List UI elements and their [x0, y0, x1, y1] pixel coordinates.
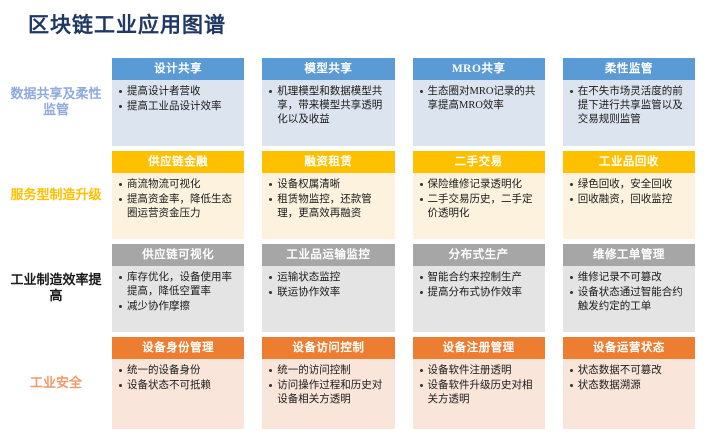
card-bullet: 机理模型和数据模型共享，带来模型共享透明化以及收益: [268, 85, 390, 127]
matrix-row: 工业制造效率提高供应链可视化库存优化，设备使用率提高，降低空置率减少协作摩擦工业…: [0, 244, 705, 332]
card-body: 统一的访问控制访问操作过程和历史对设备相关方透明: [262, 359, 394, 429]
row-label-2: 服务型制造升级: [0, 151, 112, 239]
card-title: 二手交易: [413, 151, 545, 173]
matrix-grid: 数据共享及柔性监管设计共享提高设计者营收提高工业品设计效率模型共享机理模型和数据…: [0, 58, 713, 443]
card-title: 设备访问控制: [262, 337, 394, 359]
card[interactable]: 设计共享提高设计者营收提高工业品设计效率: [112, 58, 244, 146]
card[interactable]: 设备注册管理设备软件注册透明设备软件升级历史对相关方透明: [413, 337, 545, 429]
card-bullet: 运输状态监控: [268, 271, 390, 285]
card-bullet-list: 状态数据不可篡改状态数据溯源: [569, 364, 691, 393]
card-bullet: 联运协作效率: [268, 286, 390, 300]
card-body: 运输状态监控联运协作效率: [262, 266, 394, 332]
card[interactable]: 工业品运输监控运输状态监控联运协作效率: [262, 244, 394, 332]
card-title: 工业品回收: [563, 151, 695, 173]
card-title: 工业品运输监控: [262, 244, 394, 266]
card[interactable]: 设备运营状态状态数据不可篡改状态数据溯源: [563, 337, 695, 429]
card-bullet: 状态数据不可篡改: [569, 364, 691, 378]
card-bullet-list: 智能合约来控制生产提高分布式协作效率: [419, 271, 541, 300]
card-body: 在不失市场灵活度的前提下进行共享监管以及交易规则监管: [563, 80, 695, 146]
card-bullet: 回收融资，回收监控: [569, 193, 691, 207]
card-bullet-list: 商流物流可视化提高资金率，降低生态圈运营资金压力: [118, 178, 240, 221]
card-bullet: 提高资金率，降低生态圈运营资金压力: [118, 193, 240, 221]
card-bullet: 生态圈对MRO记录的共享提高MRO效率: [419, 85, 541, 113]
card-body: 提高设计者营收提高工业品设计效率: [112, 80, 244, 146]
card[interactable]: 分布式生产智能合约来控制生产提高分布式协作效率: [413, 244, 545, 332]
row-label-1: 数据共享及柔性监管: [0, 58, 112, 146]
card-bullet-list: 统一的访问控制访问操作过程和历史对设备相关方透明: [268, 364, 390, 407]
row-cards: 供应链金融商流物流可视化提高资金率，降低生态圈运营资金压力融资租赁设备权属清晰租…: [112, 151, 705, 239]
card[interactable]: 设备身份管理统一的设备身份设备状态不可抵赖: [112, 337, 244, 429]
card-title: 融资租赁: [262, 151, 394, 173]
card-bullet: 租赁物监控，还款管理，更高效再融资: [268, 193, 390, 221]
card-body: 保险维修记录透明化二手交易历史，二手定价透明化: [413, 173, 545, 239]
card[interactable]: 二手交易保险维修记录透明化二手交易历史，二手定价透明化: [413, 151, 545, 239]
card[interactable]: 设备访问控制统一的访问控制访问操作过程和历史对设备相关方透明: [262, 337, 394, 429]
card-bullet: 减少协作摩擦: [118, 300, 240, 314]
card-bullet-list: 绿色回收，安全回收回收融资，回收监控: [569, 178, 691, 207]
row-label-4: 工业安全: [0, 337, 112, 429]
card-title: 柔性监管: [563, 58, 695, 80]
card-bullet-list: 设备权属清晰租赁物监控，还款管理，更高效再融资: [268, 178, 390, 221]
card-body: 维修记录不可篡改设备状态通过智能合约触发约定的工单: [563, 266, 695, 332]
blockchain-industry-application-map: 区块链工业应用图谱 数据共享及柔性监管设计共享提高设计者营收提高工业品设计效率模…: [0, 0, 713, 443]
card-title: 设计共享: [112, 58, 244, 80]
card-bullet: 设备软件升级历史对相关方透明: [419, 379, 541, 407]
card-bullet-list: 在不失市场灵活度的前提下进行共享监管以及交易规则监管: [569, 85, 691, 127]
card-title: 设备注册管理: [413, 337, 545, 359]
card-body: 智能合约来控制生产提高分布式协作效率: [413, 266, 545, 332]
card-bullet: 提高工业品设计效率: [118, 100, 240, 114]
card-bullet-list: 库存优化，设备使用率提高，降低空置率减少协作摩擦: [118, 271, 240, 314]
card[interactable]: 维修工单管理维修记录不可篡改设备状态通过智能合约触发约定的工单: [563, 244, 695, 332]
card[interactable]: 柔性监管在不失市场灵活度的前提下进行共享监管以及交易规则监管: [563, 58, 695, 146]
card-title: 分布式生产: [413, 244, 545, 266]
card-body: 机理模型和数据模型共享，带来模型共享透明化以及收益: [262, 80, 394, 146]
card-bullet: 绿色回收，安全回收: [569, 178, 691, 192]
card-body: 设备软件注册透明设备软件升级历史对相关方透明: [413, 359, 545, 429]
card-bullet: 智能合约来控制生产: [419, 271, 541, 285]
row-cards: 供应链可视化库存优化，设备使用率提高，降低空置率减少协作摩擦工业品运输监控运输状…: [112, 244, 705, 332]
card[interactable]: 融资租赁设备权属清晰租赁物监控，还款管理，更高效再融资: [262, 151, 394, 239]
card-bullet: 访问操作过程和历史对设备相关方透明: [268, 379, 390, 407]
card[interactable]: 供应链可视化库存优化，设备使用率提高，降低空置率减少协作摩擦: [112, 244, 244, 332]
card-title: 维修工单管理: [563, 244, 695, 266]
matrix-row: 工业安全设备身份管理统一的设备身份设备状态不可抵赖设备访问控制统一的访问控制访问…: [0, 337, 705, 429]
card-bullet: 设备权属清晰: [268, 178, 390, 192]
card-bullet-list: 维修记录不可篡改设备状态通过智能合约触发约定的工单: [569, 271, 691, 314]
card-bullet: 提高设计者营收: [118, 85, 240, 99]
card-bullet: 设备状态通过智能合约触发约定的工单: [569, 286, 691, 314]
card-bullet: 统一的设备身份: [118, 364, 240, 378]
card-bullet-list: 运输状态监控联运协作效率: [268, 271, 390, 300]
card-bullet-list: 设备软件注册透明设备软件升级历史对相关方透明: [419, 364, 541, 407]
card-body: 统一的设备身份设备状态不可抵赖: [112, 359, 244, 429]
card-bullet: 统一的访问控制: [268, 364, 390, 378]
page-title: 区块链工业应用图谱: [28, 15, 226, 36]
card-body: 设备权属清晰租赁物监控，还款管理，更高效再融资: [262, 173, 394, 239]
card-bullet-list: 提高设计者营收提高工业品设计效率: [118, 85, 240, 114]
card-body: 库存优化，设备使用率提高，降低空置率减少协作摩擦: [112, 266, 244, 332]
card-bullet: 提高分布式协作效率: [419, 286, 541, 300]
card-title: 设备身份管理: [112, 337, 244, 359]
card-bullet-list: 保险维修记录透明化二手交易历史，二手定价透明化: [419, 178, 541, 221]
card-bullet: 保险维修记录透明化: [419, 178, 541, 192]
card-body: 商流物流可视化提高资金率，降低生态圈运营资金压力: [112, 173, 244, 239]
card-bullet: 维修记录不可篡改: [569, 271, 691, 285]
card[interactable]: 工业品回收绿色回收，安全回收回收融资，回收监控: [563, 151, 695, 239]
matrix-row: 数据共享及柔性监管设计共享提高设计者营收提高工业品设计效率模型共享机理模型和数据…: [0, 58, 705, 146]
card-bullet: 库存优化，设备使用率提高，降低空置率: [118, 271, 240, 299]
row-cards: 设计共享提高设计者营收提高工业品设计效率模型共享机理模型和数据模型共享，带来模型…: [112, 58, 705, 146]
card-title: 供应链可视化: [112, 244, 244, 266]
card-bullet: 二手交易历史，二手定价透明化: [419, 193, 541, 221]
card-bullet: 状态数据溯源: [569, 379, 691, 393]
card-body: 生态圈对MRO记录的共享提高MRO效率: [413, 80, 545, 146]
card-bullet-list: 机理模型和数据模型共享，带来模型共享透明化以及收益: [268, 85, 390, 127]
card[interactable]: MRO共享生态圈对MRO记录的共享提高MRO效率: [413, 58, 545, 146]
title-bar: 区块链工业应用图谱: [0, 0, 713, 50]
card-bullet-list: 统一的设备身份设备状态不可抵赖: [118, 364, 240, 393]
card-title: 供应链金融: [112, 151, 244, 173]
matrix-row: 服务型制造升级供应链金融商流物流可视化提高资金率，降低生态圈运营资金压力融资租赁…: [0, 151, 705, 239]
card-bullet: 商流物流可视化: [118, 178, 240, 192]
card-body: 绿色回收，安全回收回收融资，回收监控: [563, 173, 695, 239]
card[interactable]: 模型共享机理模型和数据模型共享，带来模型共享透明化以及收益: [262, 58, 394, 146]
card-bullet-list: 生态圈对MRO记录的共享提高MRO效率: [419, 85, 541, 113]
card-bullet: 在不失市场灵活度的前提下进行共享监管以及交易规则监管: [569, 85, 691, 127]
card-body: 状态数据不可篡改状态数据溯源: [563, 359, 695, 429]
row-label-3: 工业制造效率提高: [0, 244, 112, 332]
card[interactable]: 供应链金融商流物流可视化提高资金率，降低生态圈运营资金压力: [112, 151, 244, 239]
card-bullet: 设备状态不可抵赖: [118, 379, 240, 393]
card-title: MRO共享: [413, 58, 545, 80]
card-bullet: 设备软件注册透明: [419, 364, 541, 378]
row-cards: 设备身份管理统一的设备身份设备状态不可抵赖设备访问控制统一的访问控制访问操作过程…: [112, 337, 705, 429]
card-title: 模型共享: [262, 58, 394, 80]
card-title: 设备运营状态: [563, 337, 695, 359]
